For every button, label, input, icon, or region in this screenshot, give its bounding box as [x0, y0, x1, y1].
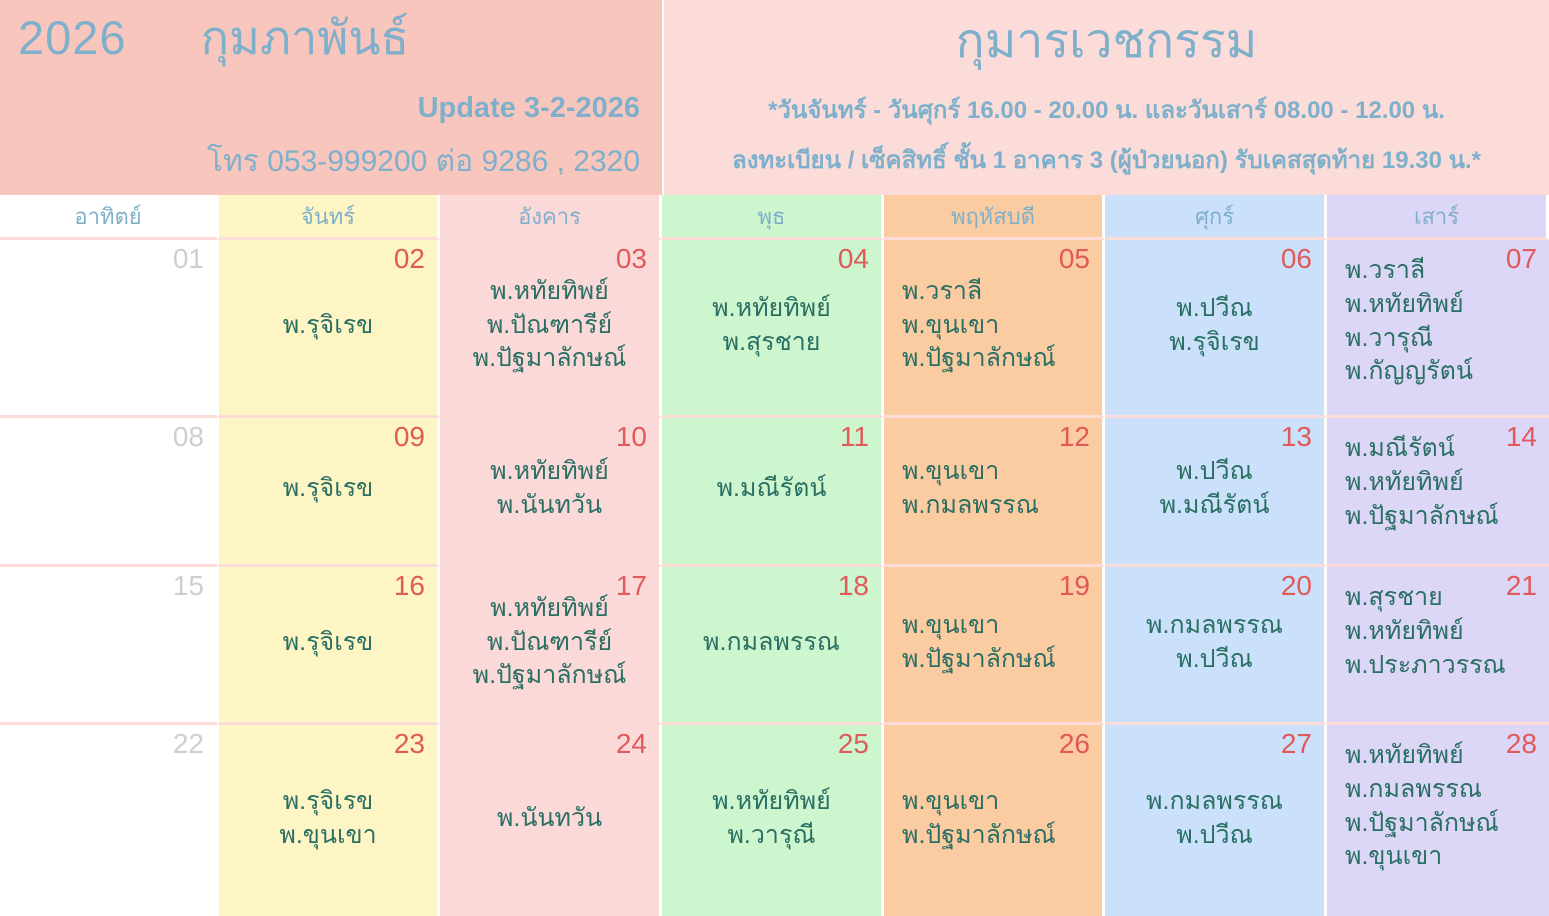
calendar-day-cell[interactable]: 02พ.รุจิเรข	[219, 240, 440, 418]
doctor-name: พ.ขุนเขา	[1345, 840, 1442, 874]
doctor-name: พ.นันทวัน	[497, 802, 602, 836]
doctor-name: พ.กมลพรรณ	[1146, 609, 1283, 643]
weekday-header-label: พุธ	[758, 199, 786, 234]
calendar-day-cell[interactable]: 06พ.ปวีณพ.รุจิเรข	[1105, 240, 1327, 418]
doctor-name: พ.ปัฐมาลักษณ์	[1345, 807, 1499, 841]
doctor-name: พ.ปัฐมาลักษณ์	[1345, 500, 1499, 534]
calendar-day-cell[interactable]: 13พ.ปวีณพ.มณีรัตน์	[1105, 418, 1327, 567]
doctor-name: พ.ปวีณ	[1176, 455, 1253, 489]
calendar-day-cell[interactable]: 07พ.วราลีพ.หทัยทิพย์พ.วารุณีพ.กัญญรัตน์	[1327, 240, 1549, 418]
header-right-panel: กุมารเวชกรรม *วันจันทร์ - วันศุกร์ 16.00…	[662, 0, 1549, 195]
doctor-name: พ.ขุนเขา	[902, 455, 999, 489]
doctor-name: พ.รุจิเรข	[283, 626, 374, 660]
doctor-name: พ.มณีรัตน์	[1345, 432, 1455, 466]
clinic-hours-line-2: ลงทะเบียน / เซ็คสิทธิ์ ชั้น 1 อาคาร 3 (ผ…	[664, 140, 1549, 179]
doctor-name: พ.ปัฐมาลักษณ์	[902, 643, 1056, 677]
doctor-name: พ.ปัฐมาลักษณ์	[473, 659, 627, 693]
doctor-name: พ.ปัฐมาลักษณ์	[473, 342, 627, 376]
calendar-day-cell[interactable]: 08	[0, 418, 219, 567]
calendar-day-cell[interactable]: 01	[0, 240, 219, 418]
doctor-name: พ.วารุณี	[727, 819, 815, 853]
doctor-name: พ.รุจิเรข	[283, 785, 374, 819]
day-number: 10	[616, 422, 647, 453]
calendar-day-cell[interactable]: 11พ.มณีรัตน์	[662, 418, 884, 567]
day-number: 21	[1506, 571, 1537, 602]
day-number: 27	[1281, 729, 1312, 760]
calendar-day-cell[interactable]: 20พ.กมลพรรณพ.ปวีณ	[1105, 567, 1327, 725]
doctor-name: พ.หทัยทิพย์	[712, 785, 831, 819]
day-number: 01	[173, 244, 204, 275]
calendar-day-cell[interactable]: 19พ.ขุนเขาพ.ปัฐมาลักษณ์	[884, 567, 1105, 725]
doctor-name: พ.ขุนเขา	[902, 609, 999, 643]
weekday-header-label: จันทร์	[301, 199, 355, 234]
weekday-header-friday: ศุกร์	[1105, 195, 1327, 240]
day-number: 22	[173, 729, 204, 760]
calendar-day-cell[interactable]: 14พ.มณีรัตน์พ.หทัยทิพย์พ.ปัฐมาลักษณ์	[1327, 418, 1549, 567]
day-number: 23	[394, 729, 425, 760]
doctor-name: พ.วราลี	[902, 275, 982, 309]
weekday-header-label: เสาร์	[1414, 199, 1459, 234]
weekday-header-thursday: พฤหัสบดี	[884, 195, 1105, 240]
day-number: 28	[1506, 729, 1537, 760]
weekday-header-sunday: อาทิตย์	[0, 195, 219, 240]
day-number: 15	[173, 571, 204, 602]
day-number: 18	[838, 571, 869, 602]
calendar-day-cell[interactable]: 22	[0, 725, 219, 916]
weekday-header-wednesday: พุธ	[662, 195, 884, 240]
day-number: 07	[1506, 244, 1537, 275]
clinic-hours-line-1: *วันจันทร์ - วันศุกร์ 16.00 - 20.00 น. แ…	[664, 90, 1549, 129]
calendar-day-cell[interactable]: 26พ.ขุนเขาพ.ปัฐมาลักษณ์	[884, 725, 1105, 916]
doctor-name: พ.ปวีณ	[1176, 643, 1253, 677]
day-number: 11	[840, 422, 869, 453]
doctor-name: พ.สุรชาย	[723, 326, 821, 360]
day-number: 20	[1281, 571, 1312, 602]
calendar-day-cell[interactable]: 23พ.รุจิเรขพ.ขุนเขา	[219, 725, 440, 916]
calendar-header: 2026 กุมภาพันธ์ Update 3-2-2026 โทร 053-…	[0, 0, 1549, 195]
calendar-day-cell[interactable]: 09พ.รุจิเรข	[219, 418, 440, 567]
month-title-row: 2026 กุมภาพันธ์	[0, 14, 662, 61]
doctor-name: พ.นันทวัน	[497, 489, 602, 523]
doctor-name: พ.กัญญรัตน์	[1345, 355, 1473, 389]
calendar-day-cell[interactable]: 28พ.หทัยทิพย์พ.กมลพรรณพ.ปัฐมาลักษณ์พ.ขุน…	[1327, 725, 1549, 916]
doctor-name: พ.หทัยทิพย์	[490, 455, 609, 489]
doctor-name: พ.วราลี	[1345, 254, 1425, 288]
day-number: 25	[838, 729, 869, 760]
doctor-name: พ.หทัยทิพย์	[490, 592, 609, 626]
weekday-header-tuesday: อังคาร	[440, 195, 662, 240]
calendar-day-cell[interactable]: 04พ.หทัยทิพย์พ.สุรชาย	[662, 240, 884, 418]
phone-label: โทร 053-999200 ต่อ 9286 , 2320	[207, 138, 640, 185]
day-number: 16	[394, 571, 425, 602]
doctor-name: พ.หทัยทิพย์	[1345, 739, 1464, 773]
doctor-name: พ.กมลพรรณ	[902, 489, 1039, 523]
day-number: 17	[616, 571, 647, 602]
doctor-name: พ.สุรชาย	[1345, 581, 1443, 615]
year-label: 2026	[18, 14, 127, 61]
calendar-day-cell[interactable]: 15	[0, 567, 219, 725]
day-number: 12	[1059, 422, 1090, 453]
weekday-header-label: พฤหัสบดี	[951, 199, 1035, 234]
doctor-name: พ.ปวีณ	[1176, 292, 1253, 326]
doctor-name: พ.วารุณี	[1345, 322, 1433, 356]
doctor-name: พ.ปัณฑารีย์	[487, 309, 612, 343]
weekday-header-label: อาทิตย์	[74, 199, 141, 234]
doctor-name: พ.หทัยทิพย์	[1345, 615, 1464, 649]
clinic-name-label: กุมารเวชกรรม	[664, 16, 1549, 69]
doctor-name: พ.หทัยทิพย์	[490, 275, 609, 309]
calendar-day-cell[interactable]: 21พ.สุรชายพ.หทัยทิพย์พ.ประภาวรรณ	[1327, 567, 1549, 725]
month-label: กุมภาพันธ์	[201, 14, 410, 61]
day-number: 06	[1281, 244, 1312, 275]
doctor-name: พ.มณีรัตน์	[717, 472, 827, 506]
doctor-name: พ.ขุนเขา	[902, 785, 999, 819]
calendar-day-cell[interactable]: 03พ.หทัยทิพย์พ.ปัณฑารีย์พ.ปัฐมาลักษณ์	[440, 240, 662, 418]
weekday-header-saturday: เสาร์	[1327, 195, 1549, 240]
day-number: 13	[1281, 422, 1312, 453]
doctor-name: พ.หทัยทิพย์	[1345, 466, 1464, 500]
calendar-day-cell[interactable]: 25พ.หทัยทิพย์พ.วารุณี	[662, 725, 884, 916]
calendar-day-cell[interactable]: 16พ.รุจิเรข	[219, 567, 440, 725]
calendar-day-cell[interactable]: 18พ.กมลพรรณ	[662, 567, 884, 725]
doctor-name: พ.มณีรัตน์	[1160, 489, 1270, 523]
calendar-day-cell[interactable]: 05พ.วราลีพ.ขุนเขาพ.ปัฐมาลักษณ์	[884, 240, 1105, 418]
day-number: 14	[1506, 422, 1537, 453]
day-number: 08	[173, 422, 204, 453]
doctor-name: พ.รุจิเรข	[283, 309, 374, 343]
weekday-header-label: ศุกร์	[1195, 199, 1234, 234]
doctor-name: พ.รุจิเรข	[283, 472, 374, 506]
day-number: 24	[616, 729, 647, 760]
header-left-panel: 2026 กุมภาพันธ์ Update 3-2-2026 โทร 053-…	[0, 0, 662, 195]
day-number: 05	[1059, 244, 1090, 275]
update-date-label: Update 3-2-2026	[418, 92, 640, 125]
doctor-name: พ.กมลพรรณ	[1146, 785, 1283, 819]
doctor-name: พ.ปัณฑารีย์	[487, 626, 612, 660]
doctor-name: พ.ขุนเขา	[279, 819, 376, 853]
day-number: 26	[1059, 729, 1090, 760]
calendar-grid: อาทิตย์จันทร์อังคารพุธพฤหัสบดีศุกร์เสาร์…	[0, 195, 1549, 916]
calendar-root: 2026 กุมภาพันธ์ Update 3-2-2026 โทร 053-…	[0, 0, 1549, 911]
doctor-name: พ.ประภาวรรณ	[1345, 649, 1506, 683]
doctor-name: พ.ปัฐมาลักษณ์	[902, 342, 1056, 376]
day-number: 02	[394, 244, 425, 275]
calendar-day-cell[interactable]: 12พ.ขุนเขาพ.กมลพรรณ	[884, 418, 1105, 567]
day-number: 09	[394, 422, 425, 453]
calendar-day-cell[interactable]: 24พ.นันทวัน	[440, 725, 662, 916]
doctor-name: พ.กมลพรรณ	[1345, 773, 1482, 807]
doctor-name: พ.ปัฐมาลักษณ์	[902, 819, 1056, 853]
doctor-name: พ.หทัยทิพย์	[1345, 288, 1464, 322]
doctor-name: พ.ปวีณ	[1176, 819, 1253, 853]
calendar-day-cell[interactable]: 17พ.หทัยทิพย์พ.ปัณฑารีย์พ.ปัฐมาลักษณ์	[440, 567, 662, 725]
doctor-name: พ.หทัยทิพย์	[712, 292, 831, 326]
day-number: 03	[616, 244, 647, 275]
calendar-day-cell[interactable]: 27พ.กมลพรรณพ.ปวีณ	[1105, 725, 1327, 916]
day-number: 19	[1059, 571, 1090, 602]
day-number: 04	[838, 244, 869, 275]
doctor-name: พ.กมลพรรณ	[703, 626, 840, 660]
weekday-header-label: อังคาร	[518, 199, 581, 234]
doctor-name: พ.ขุนเขา	[902, 309, 999, 343]
calendar-day-cell[interactable]: 10พ.หทัยทิพย์พ.นันทวัน	[440, 418, 662, 567]
weekday-header-monday: จันทร์	[219, 195, 440, 240]
doctor-name: พ.รุจิเรข	[1169, 326, 1260, 360]
